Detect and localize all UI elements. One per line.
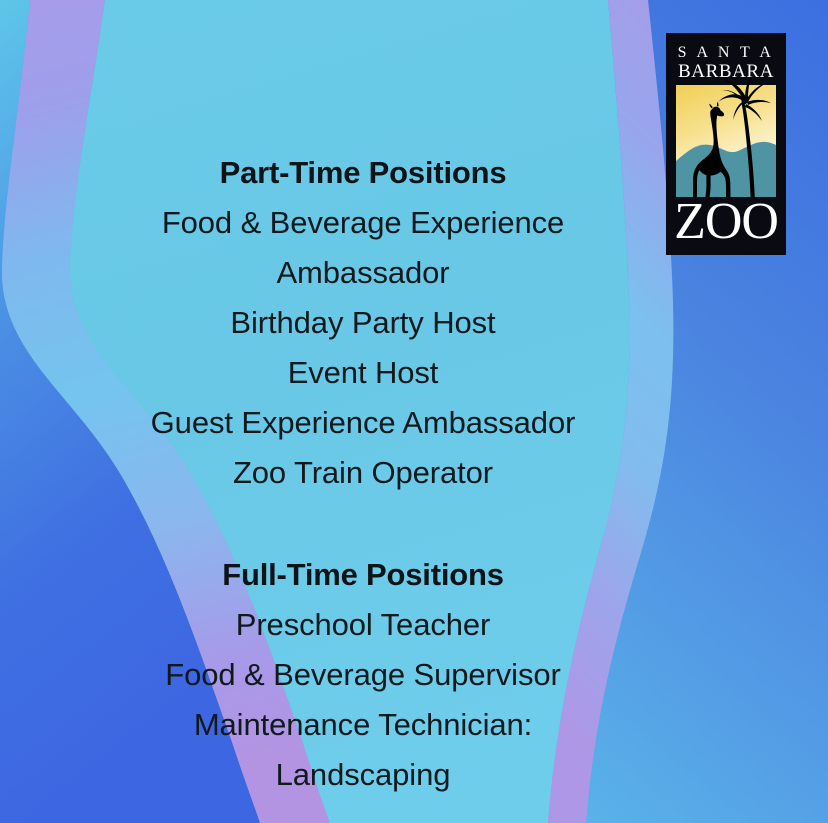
list-item: Preschool Teacher	[0, 600, 726, 650]
list-item: Birthday Party Host	[0, 298, 726, 348]
full-time-section: Full-Time Positions Preschool Teacher Fo…	[0, 550, 726, 800]
job-openings-poster: S A N T A BARBARA	[0, 0, 828, 823]
list-item: Event Host	[0, 348, 726, 398]
list-item: Maintenance Technician:	[0, 700, 726, 750]
list-item: Guest Experience Ambassador	[0, 398, 726, 448]
full-time-heading: Full-Time Positions	[0, 550, 726, 600]
part-time-section: Part-Time Positions Food & Beverage Expe…	[0, 148, 726, 498]
logo-text-barbara: BARBARA	[678, 61, 774, 82]
list-item: Landscaping	[0, 750, 726, 800]
logo-text-santa: S A N T A	[678, 44, 775, 61]
list-item: Food & Beverage Supervisor	[0, 650, 726, 700]
list-item: Zoo Train Operator	[0, 448, 726, 498]
list-item: Ambassador	[0, 248, 726, 298]
part-time-heading: Part-Time Positions	[0, 148, 726, 198]
list-item: Food & Beverage Experience	[0, 198, 726, 248]
